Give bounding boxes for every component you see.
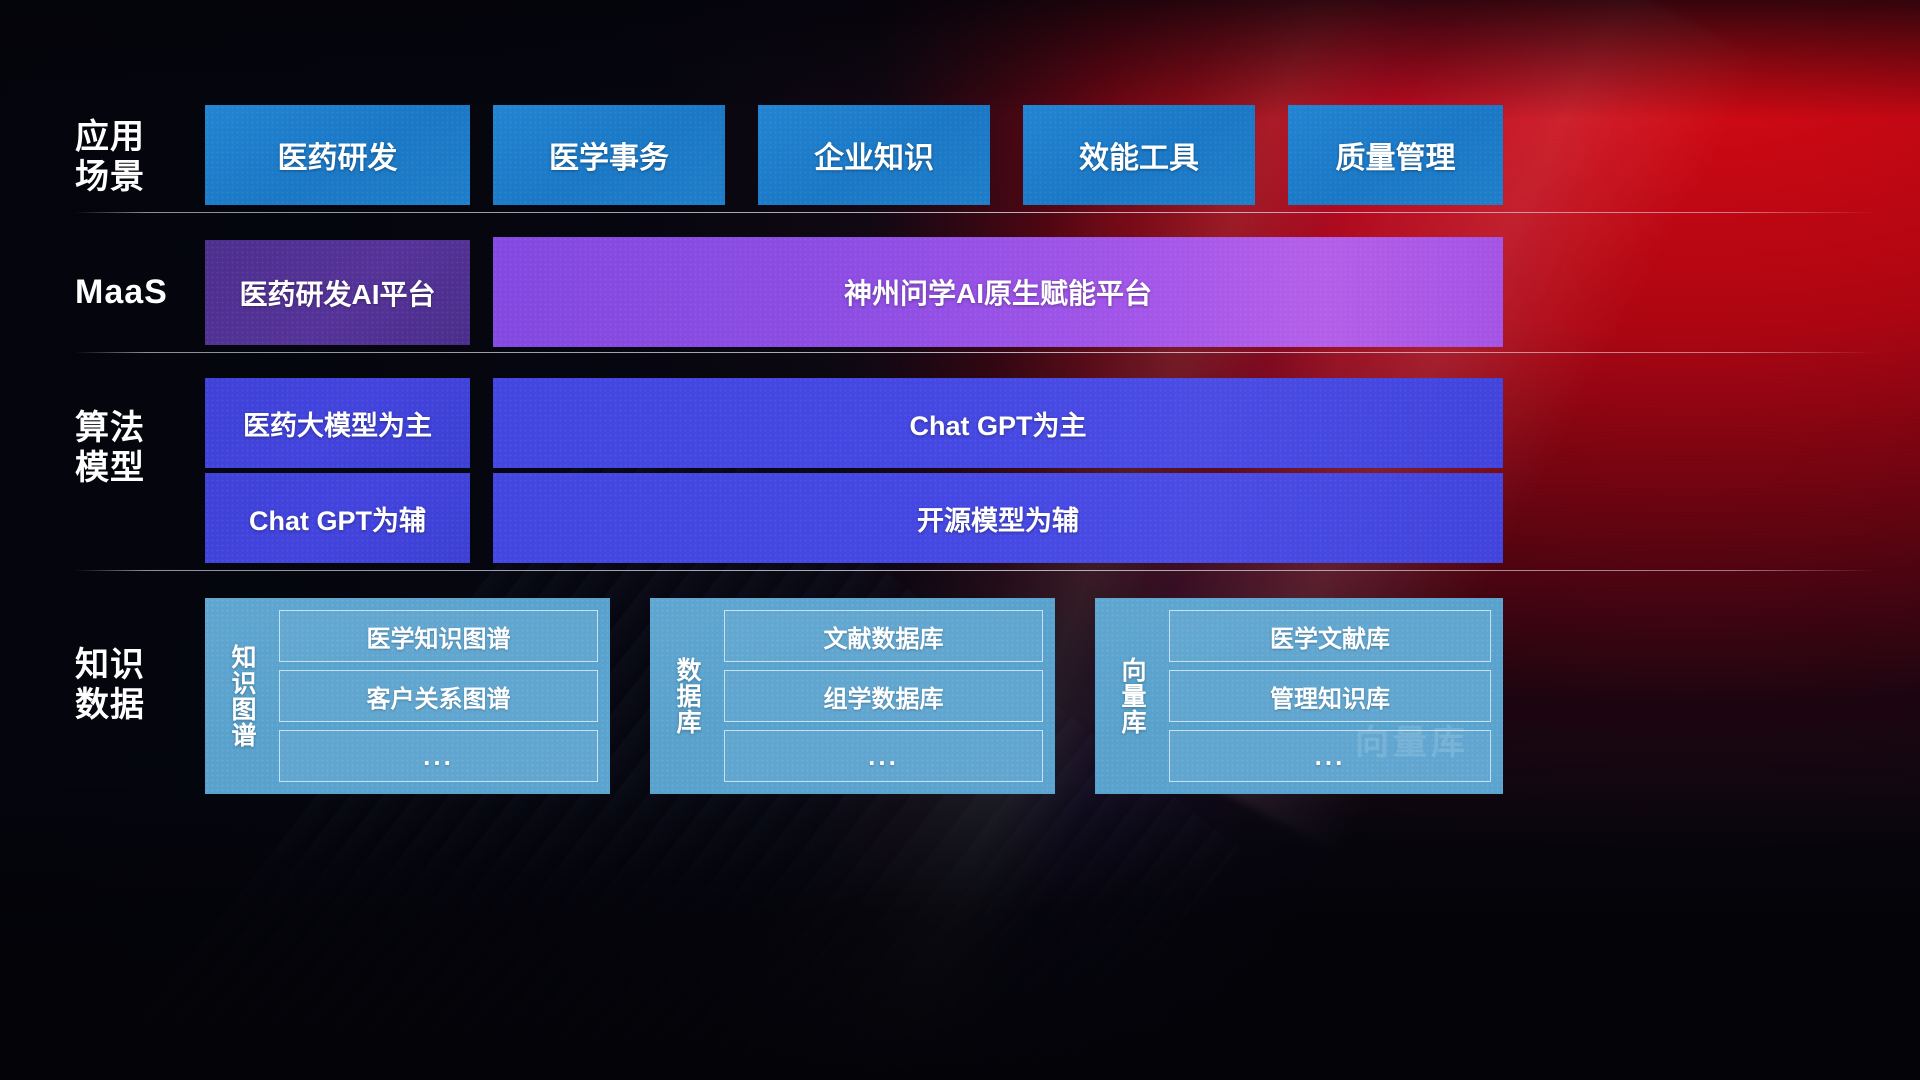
- algorithm-box-row1-left[interactable]: 医药大模型为主: [205, 378, 470, 468]
- knowledge-panel-3-side-label: 向量库: [1095, 610, 1169, 782]
- row-label-algorithm-models: 算法 模型: [75, 408, 225, 488]
- maas-platform-label-left: 医药研发AI平台: [239, 273, 435, 313]
- app-scenario-box-1[interactable]: 医药研发: [205, 105, 470, 205]
- algorithm-label-row1-left: 医药大模型为主: [243, 404, 432, 443]
- knowledge-item-3-3[interactable]: ...: [1169, 730, 1491, 782]
- algorithm-box-row1-right[interactable]: Chat GPT为主: [493, 378, 1503, 468]
- knowledge-panel-1[interactable]: 知识图谱 医学知识图谱 客户关系图谱 ...: [205, 598, 610, 794]
- knowledge-panel-3-items: 医学文献库 管理知识库 ...: [1169, 610, 1491, 782]
- knowledge-panel-1-items: 医学知识图谱 客户关系图谱 ...: [279, 610, 598, 782]
- app-scenario-label-4: 效能工具: [1079, 133, 1199, 177]
- row-label-knowledge-data: 知识 数据: [75, 645, 225, 725]
- divider-3: [75, 570, 1878, 571]
- knowledge-item-2-1[interactable]: 文献数据库: [724, 610, 1043, 662]
- knowledge-item-1-2[interactable]: 客户关系图谱: [279, 670, 598, 722]
- maas-platform-label-right: 神州问学AI原生赋能平台: [844, 272, 1152, 312]
- app-scenario-box-2[interactable]: 医学事务: [493, 105, 725, 205]
- algorithm-label-row2-left: Chat GPT为辅: [249, 499, 426, 538]
- app-scenario-box-4[interactable]: 效能工具: [1023, 105, 1255, 205]
- knowledge-item-2-3[interactable]: ...: [724, 730, 1043, 782]
- knowledge-panel-2-side-label: 数据库: [650, 610, 724, 782]
- maas-platform-box-right[interactable]: 神州问学AI原生赋能平台: [493, 237, 1503, 347]
- algorithm-label-row1-right: Chat GPT为主: [909, 404, 1086, 443]
- row-label-application-scenarios: 应用 场景: [75, 117, 225, 197]
- app-scenario-label-1: 医药研发: [278, 133, 398, 177]
- app-scenario-box-3[interactable]: 企业知识: [758, 105, 990, 205]
- knowledge-item-3-1[interactable]: 医学文献库: [1169, 610, 1491, 662]
- divider-1: [75, 212, 1878, 213]
- app-scenario-label-2: 医学事务: [549, 133, 669, 177]
- app-scenario-label-3: 企业知识: [814, 133, 934, 177]
- knowledge-item-1-3[interactable]: ...: [279, 730, 598, 782]
- algorithm-box-row2-left[interactable]: Chat GPT为辅: [205, 473, 470, 563]
- knowledge-item-1-1[interactable]: 医学知识图谱: [279, 610, 598, 662]
- knowledge-item-3-2[interactable]: 管理知识库: [1169, 670, 1491, 722]
- app-scenario-box-5[interactable]: 质量管理: [1288, 105, 1503, 205]
- knowledge-panel-2-items: 文献数据库 组学数据库 ...: [724, 610, 1043, 782]
- diagram-canvas: 应用 场景 医药研发 医学事务 企业知识 效能工具 质量管理 MaaS 医药研发…: [0, 0, 1920, 1080]
- maas-platform-box-left[interactable]: 医药研发AI平台: [205, 240, 470, 345]
- knowledge-panel-3[interactable]: 向量库 医学文献库 管理知识库 ...: [1095, 598, 1503, 794]
- knowledge-panel-1-side-label: 知识图谱: [205, 610, 279, 782]
- app-scenario-label-5: 质量管理: [1336, 133, 1456, 177]
- row-label-maas: MaaS: [75, 272, 225, 312]
- algorithm-label-row2-right: 开源模型为辅: [917, 499, 1079, 538]
- knowledge-item-2-2[interactable]: 组学数据库: [724, 670, 1043, 722]
- algorithm-box-row2-right[interactable]: 开源模型为辅: [493, 473, 1503, 563]
- knowledge-panel-2[interactable]: 数据库 文献数据库 组学数据库 ...: [650, 598, 1055, 794]
- divider-2: [75, 352, 1878, 353]
